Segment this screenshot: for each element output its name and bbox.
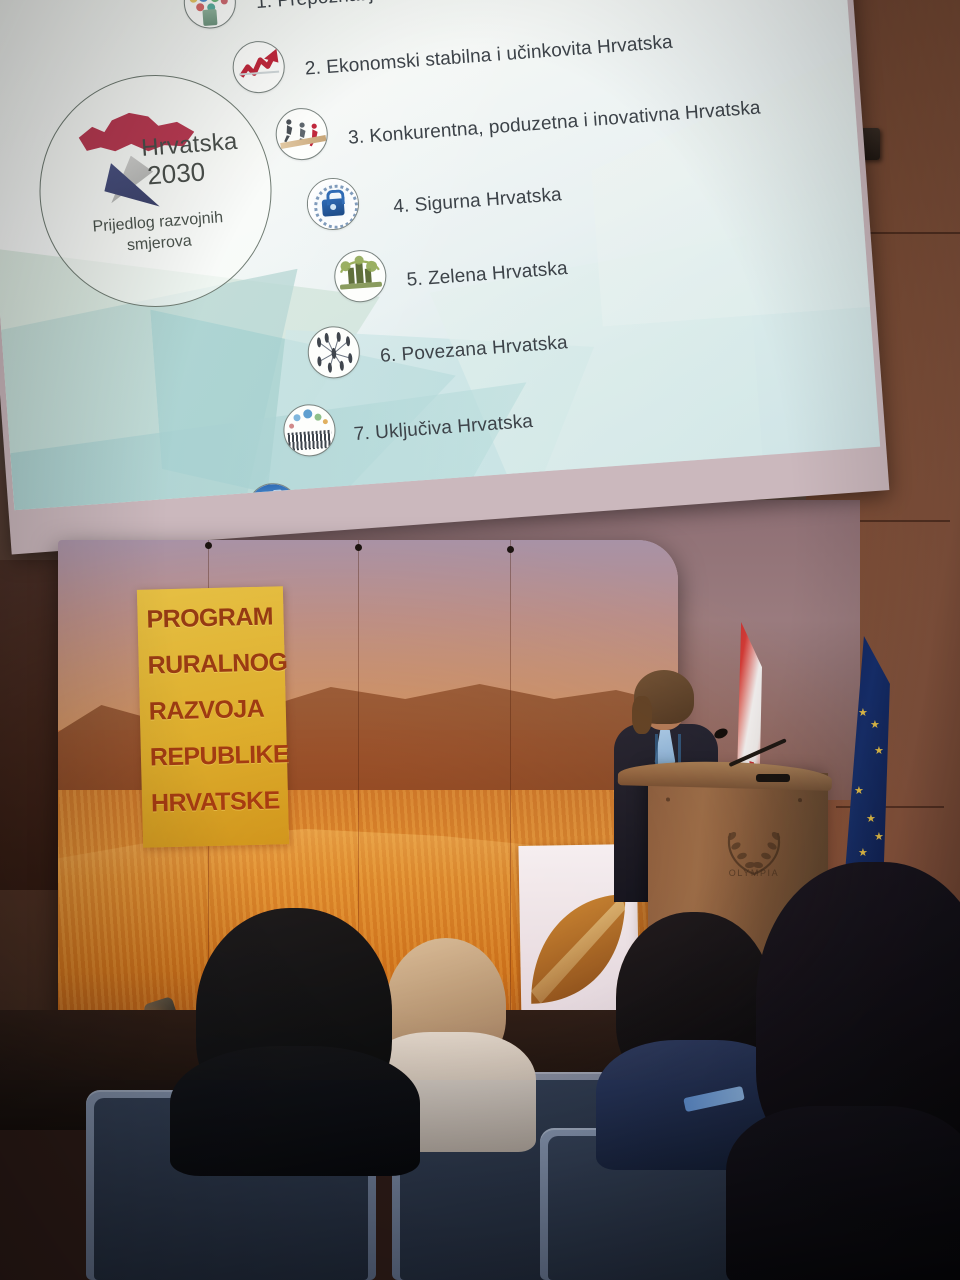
headline-line: HRVATSKE	[151, 786, 280, 818]
balloons-tree-icon	[182, 0, 238, 30]
banner-headline-panel: PROGRAM RURALNOG RAZVOJA REPUBLIKE HRVAT…	[137, 586, 289, 847]
headline-line: RAZVOJA	[149, 695, 265, 727]
podium-brand: OLYMPIA	[716, 868, 792, 878]
headline-line: REPUBLIKE	[150, 740, 290, 772]
logo-subtitle: Prijedlog razvojnih smjerova	[60, 205, 257, 261]
audience-member-shoulders	[170, 1046, 420, 1176]
headline-line: PROGRAM	[146, 603, 273, 635]
microphone	[742, 742, 788, 784]
logo-year: 2030	[146, 156, 206, 191]
projection-screen: Hrvatska 2030 Prijedlog razvojnih smjero…	[0, 0, 889, 554]
audience-member-shoulders	[726, 1106, 960, 1280]
conference-photo: Hrvatska 2030 Prijedlog razvojnih smjero…	[0, 0, 960, 1280]
red-growth-arrow-icon	[231, 39, 287, 95]
headline-line: RURALNOG	[147, 648, 287, 680]
list-item-label: 1. Prepoznatljiva Hrvatska	[255, 0, 479, 15]
slide-surface: Hrvatska 2030 Prijedlog razvojnih smjero…	[0, 0, 880, 510]
slide-item-list: 1. Prepoznatljiva Hrvatska 2. Ekonomski …	[212, 0, 873, 427]
